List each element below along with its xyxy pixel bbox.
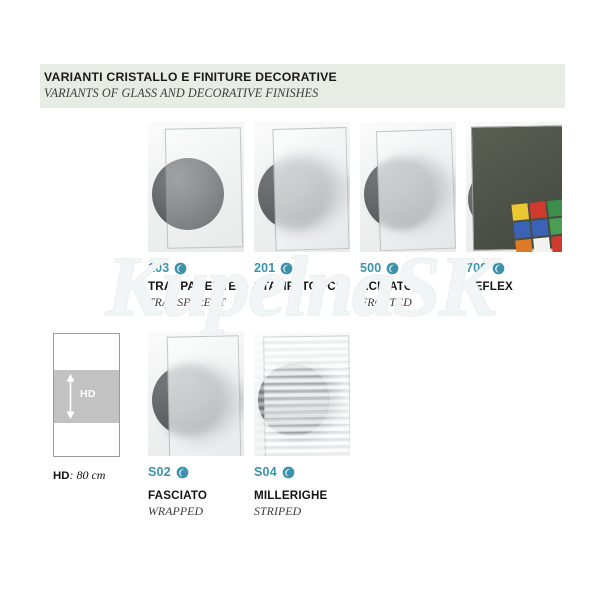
- swatch-code: 201: [254, 261, 275, 275]
- glass-pane-frosted: [376, 129, 456, 252]
- hd-dimension-diagram: HD: [53, 333, 120, 457]
- swatch-photo-reflex: [466, 122, 562, 252]
- glass-pane-printed: [272, 127, 349, 251]
- swatch-code: S04: [254, 465, 277, 479]
- swatch-name-italian: REFLEX: [466, 280, 513, 293]
- color-cell: [547, 199, 562, 217]
- swatch-code: S02: [148, 465, 171, 479]
- swatch-code-row: 500: [360, 260, 399, 276]
- color-cell: [549, 217, 562, 235]
- hd-inner-label: HD: [80, 388, 96, 400]
- color-cell: [533, 237, 551, 252]
- swatch-photo-transparent: [148, 122, 244, 252]
- color-cell: [515, 239, 533, 252]
- swatch-code-row: 700: [466, 260, 505, 276]
- hd-shaded-band: HD: [54, 370, 119, 423]
- color-cell: [529, 201, 547, 219]
- swatch-name-italian: FASCIATO: [148, 489, 207, 502]
- reflex-color-grid: [511, 199, 562, 252]
- hd-caption-key: HD: [53, 470, 69, 482]
- swatch-code-row: 103: [148, 260, 187, 276]
- glass-drop-icon: [176, 466, 189, 479]
- swatch-photo-frosted: [360, 122, 456, 252]
- swatch-name-italian: STAMPATO “C”: [254, 280, 342, 293]
- swatch-code: 700: [466, 261, 487, 275]
- glass-drop-icon: [282, 466, 295, 479]
- swatch-name-english: TRANSPARENT: [148, 295, 226, 310]
- color-cell: [551, 235, 562, 252]
- swatch-code: 103: [148, 261, 169, 275]
- swatch-code-row: S02: [148, 464, 189, 480]
- swatch-name-italian: ACIDATO: [360, 280, 413, 293]
- glass-pane-clear: [165, 127, 243, 249]
- swatch-name-english: STRIPED: [254, 504, 301, 519]
- hd-caption: HD: 80 cm: [53, 468, 105, 483]
- glass-drop-icon: [492, 262, 505, 275]
- swatch-name-english: FROSTED: [360, 295, 412, 310]
- swatch-name-italian: MILLERIGHE: [254, 489, 328, 502]
- swatch-code-row: S04: [254, 464, 295, 480]
- glass-drop-icon: [280, 262, 293, 275]
- swatch-code-row: 201: [254, 260, 293, 276]
- swatch-name-english: WRAPPED: [148, 504, 203, 519]
- swatch-photo-striped: [254, 332, 350, 456]
- section-header-banner: VARIANTI CRISTALLO E FINITURE DECORATIVE…: [40, 64, 565, 108]
- glass-pane-striped: [263, 335, 350, 456]
- hd-caption-value: : 80 cm: [69, 468, 105, 482]
- swatch-photo-wrapped: [148, 332, 244, 456]
- color-cell: [513, 221, 531, 239]
- hd-double-arrow-icon: [65, 374, 76, 419]
- glass-drop-icon: [386, 262, 399, 275]
- glass-drop-icon: [174, 262, 187, 275]
- swatch-name-italian: TRASPARENTE: [148, 280, 236, 293]
- color-cell: [511, 203, 529, 221]
- swatch-photo-printed: [254, 122, 350, 252]
- swatch-code: 500: [360, 261, 381, 275]
- color-cell: [531, 219, 549, 237]
- glass-pane-wrapped: [167, 335, 242, 456]
- banner-title-italian: VARIANTI CRISTALLO E FINITURE DECORATIVE: [44, 70, 337, 84]
- banner-subtitle-english: VARIANTS OF GLASS AND DECORATIVE FINISHE…: [44, 86, 318, 101]
